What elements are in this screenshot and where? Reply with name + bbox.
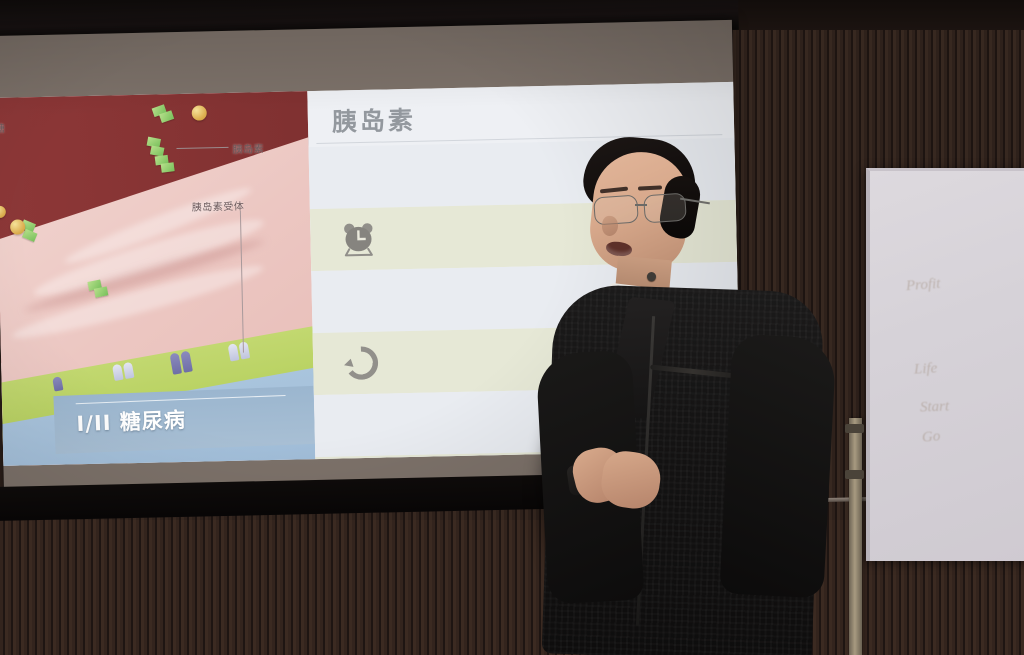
blood-glucose-label: 血糖 (0, 120, 5, 135)
right-arm (719, 333, 836, 598)
diabetes-banner: I/II 糖尿病 (53, 386, 315, 454)
insulin-receptor (169, 350, 194, 375)
insulin-label: 胰岛素 (232, 140, 264, 156)
jacket-button (647, 272, 656, 281)
banner-rule (76, 395, 286, 404)
diabetes-banner-text: I/II 糖尿病 (76, 404, 187, 438)
whiteboard-mark: Start (920, 398, 950, 416)
whiteboard: Profit Life Start Go (866, 168, 1024, 561)
glasses-bridge (635, 204, 647, 206)
icon-slot (313, 342, 410, 384)
whiteboard-mark: Go (921, 428, 941, 447)
alarm-clock-icon (338, 219, 379, 260)
icon-slot (310, 218, 407, 260)
biology-illustration: 血糖 胰岛素 胰岛素受体 I/II 糖尿病 (0, 91, 315, 466)
whiteboard-mark: Life (914, 360, 938, 378)
presenter (540, 130, 860, 655)
lecture-room-photo: 血糖 胰岛素 胰岛素受体 I/II 糖尿病 胰岛素 (0, 0, 1024, 655)
page-title: 胰岛素 (332, 101, 417, 139)
whiteboard-mark: Profit (905, 276, 941, 295)
insulin-receptor (228, 341, 253, 363)
refresh-cycle-icon (341, 343, 382, 384)
insulin-receptor-label: 胰岛素受体 (192, 198, 245, 214)
insulin-receptor (112, 361, 137, 383)
